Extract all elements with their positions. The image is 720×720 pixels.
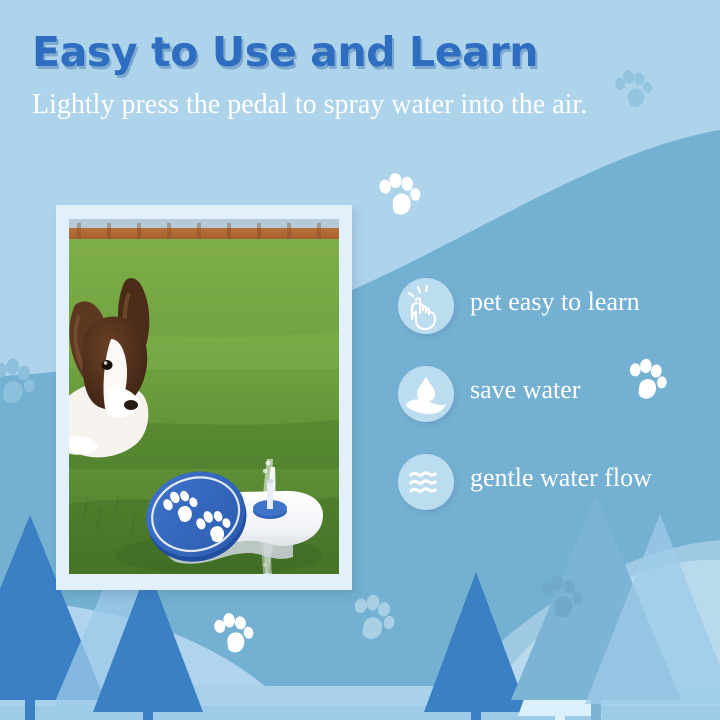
product-photo: [69, 219, 339, 574]
feature-label: pet easy to learn: [470, 287, 640, 317]
paw-print-bottom-white: [213, 610, 256, 655]
heading-block: Easy to Use and Learn Lightly press the …: [32, 30, 632, 122]
hand-water-drop-icon: [398, 366, 454, 422]
page-title: Easy to Use and Learn: [32, 30, 632, 76]
infographic-banner: Easy to Use and Learn Lightly press the …: [0, 0, 720, 720]
feature-label: gentle water flow: [470, 463, 652, 493]
feature-label: save water: [470, 375, 580, 405]
feature-row-save-water: save water: [398, 366, 708, 454]
page-subtitle: Lightly press the pedal to spray water i…: [32, 88, 624, 122]
paw-print-bottom-mid: [350, 592, 399, 643]
feature-list: pet easy to learn save water: [398, 278, 708, 542]
product-photo-illustration: [69, 219, 339, 574]
paw-print-mid-white: [378, 171, 422, 217]
paw-print-left: [0, 356, 38, 406]
product-photo-card: [56, 205, 352, 590]
feature-row-pet-easy-to-learn: pet easy to learn: [398, 278, 708, 366]
tap-hand-icon: [398, 278, 454, 334]
feature-row-gentle-water-flow: gentle water flow: [398, 454, 708, 542]
water-waves-icon: [398, 454, 454, 510]
